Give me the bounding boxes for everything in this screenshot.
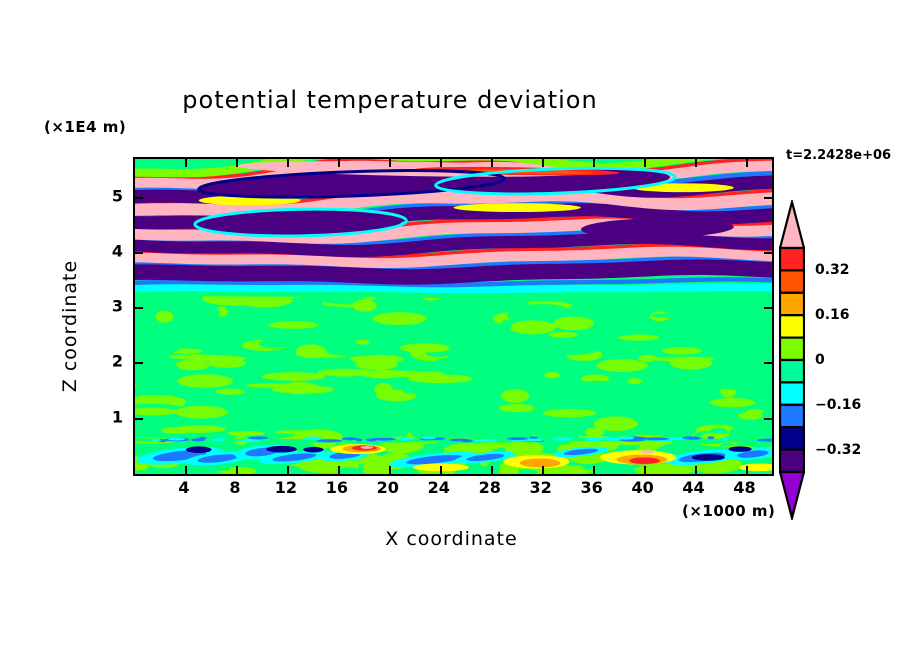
y-axis-tick (764, 252, 772, 254)
colorbar-tick-label: −0.16 (815, 397, 861, 413)
x-axis-tick (338, 159, 340, 167)
x-axis-tick-label: 48 (733, 478, 755, 497)
x-axis-tick (695, 159, 697, 167)
x-axis-title: X coordinate (133, 528, 770, 550)
x-axis-tick-label: 36 (580, 478, 602, 497)
x-axis-tick (542, 466, 544, 474)
x-axis-tick-label: 4 (178, 478, 189, 497)
x-axis-tick (287, 466, 289, 474)
x-axis-tick (236, 159, 238, 167)
x-axis-tick-label: 16 (326, 478, 348, 497)
z-axis-unit-label: (×1E4 m) (44, 118, 126, 136)
x-axis-tick (440, 159, 442, 167)
x-axis-tick-label: 12 (275, 478, 297, 497)
y-axis-tick (764, 197, 772, 199)
y-axis-tick (135, 362, 143, 364)
x-axis-tick-label: 44 (682, 478, 704, 497)
y-axis-tick-label: 4 (103, 241, 123, 260)
x-axis-tick (644, 159, 646, 167)
colorbar-swatches (779, 200, 805, 520)
y-axis-tick (135, 197, 143, 199)
y-axis-title: Z coordinate (59, 226, 81, 426)
x-axis-tick (593, 159, 595, 167)
x-axis-tick (185, 159, 187, 167)
contour-plot-area[interactable] (133, 157, 774, 476)
x-axis-tick (695, 466, 697, 474)
x-axis-tick (287, 159, 289, 167)
x-axis-tick-label: 8 (229, 478, 240, 497)
time-annotation: t=2.2428e+06 (786, 148, 891, 163)
colorbar-tick-label: 0 (815, 352, 825, 368)
x-axis-tick (185, 466, 187, 474)
x-axis-unit-label: (×1000 m) (682, 502, 775, 520)
y-axis-tick-label: 3 (103, 297, 123, 316)
y-axis-tick-label: 2 (103, 352, 123, 371)
y-axis-tick (135, 252, 143, 254)
page-title: potential temperature deviation (0, 86, 780, 114)
x-axis-tick-label: 20 (377, 478, 399, 497)
colorbar-tick-label: 0.16 (815, 307, 850, 323)
y-axis-tick (135, 307, 143, 309)
y-axis-tick (764, 307, 772, 309)
x-axis-tick (440, 466, 442, 474)
colorbar-tick-label: −0.32 (815, 442, 861, 458)
y-axis-tick-label: 5 (103, 186, 123, 205)
x-axis-tick (491, 466, 493, 474)
x-axis-tick (542, 159, 544, 167)
y-axis-tick (135, 418, 143, 420)
x-axis-tick (338, 466, 340, 474)
x-axis-tick (236, 466, 238, 474)
x-axis-tick-label: 32 (530, 478, 552, 497)
y-axis-tick-label: 1 (103, 407, 123, 426)
y-axis-tick (764, 418, 772, 420)
colorbar[interactable] (779, 200, 805, 520)
colorbar-tick-label: 0.32 (815, 262, 850, 278)
x-axis-tick-label: 28 (479, 478, 501, 497)
x-axis-tick (491, 159, 493, 167)
y-axis-tick (764, 362, 772, 364)
x-axis-tick (746, 159, 748, 167)
x-axis-tick-label: 24 (428, 478, 450, 497)
x-axis-tick (746, 466, 748, 474)
x-axis-tick-label: 40 (631, 478, 653, 497)
x-axis-tick (593, 466, 595, 474)
contour-field (135, 159, 772, 474)
x-axis-tick (644, 466, 646, 474)
x-axis-tick (389, 466, 391, 474)
x-axis-tick (389, 159, 391, 167)
